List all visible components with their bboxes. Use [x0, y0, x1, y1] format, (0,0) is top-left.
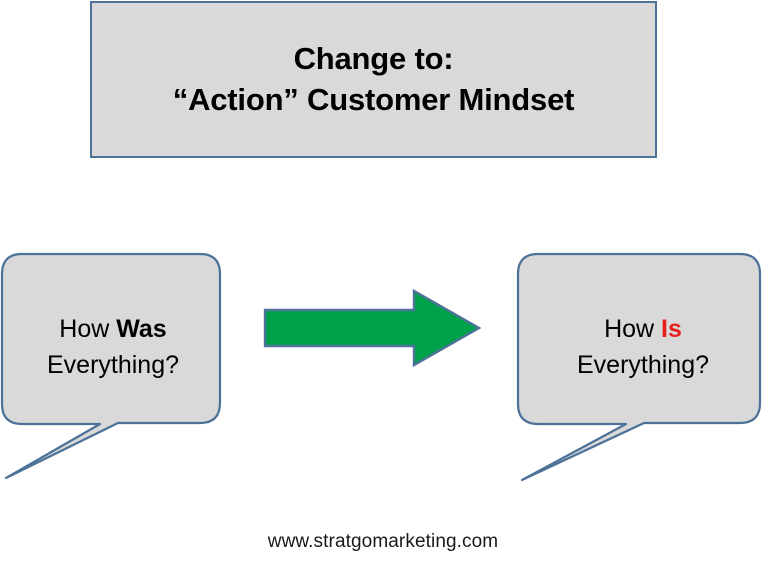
speech-bubble-left: How Was Everything?	[0, 248, 232, 486]
speech-bubble-right: How Is Everything?	[516, 248, 766, 486]
speech-bubble-left-line-2: Everything?	[47, 347, 179, 383]
speech-bubble-right-line-1: How Is	[604, 311, 682, 347]
speech-bubble-left-text: How Was Everything?	[6, 292, 220, 402]
speech-bubble-left-line-1-prefix: How	[59, 315, 116, 343]
speech-bubble-right-line-1-prefix: How	[604, 315, 661, 343]
speech-bubble-right-line-1-emphasis: Is	[661, 315, 682, 343]
green-arrow-shape	[262, 288, 484, 368]
green-arrow	[262, 288, 484, 368]
header-title-line-1: Change to:	[294, 39, 454, 79]
speech-bubble-right-line-2: Everything?	[577, 347, 709, 383]
header-banner: Change to: “Action” Customer Mindset	[90, 1, 657, 158]
speech-bubble-left-line-1: How Was	[59, 311, 166, 347]
header-title-line-2: “Action” Customer Mindset	[173, 80, 574, 120]
footer-website-url: www.stratgomarketing.com	[0, 531, 766, 553]
speech-bubble-right-text: How Is Everything?	[530, 292, 756, 402]
speech-bubble-left-line-1-emphasis: Was	[116, 315, 166, 343]
